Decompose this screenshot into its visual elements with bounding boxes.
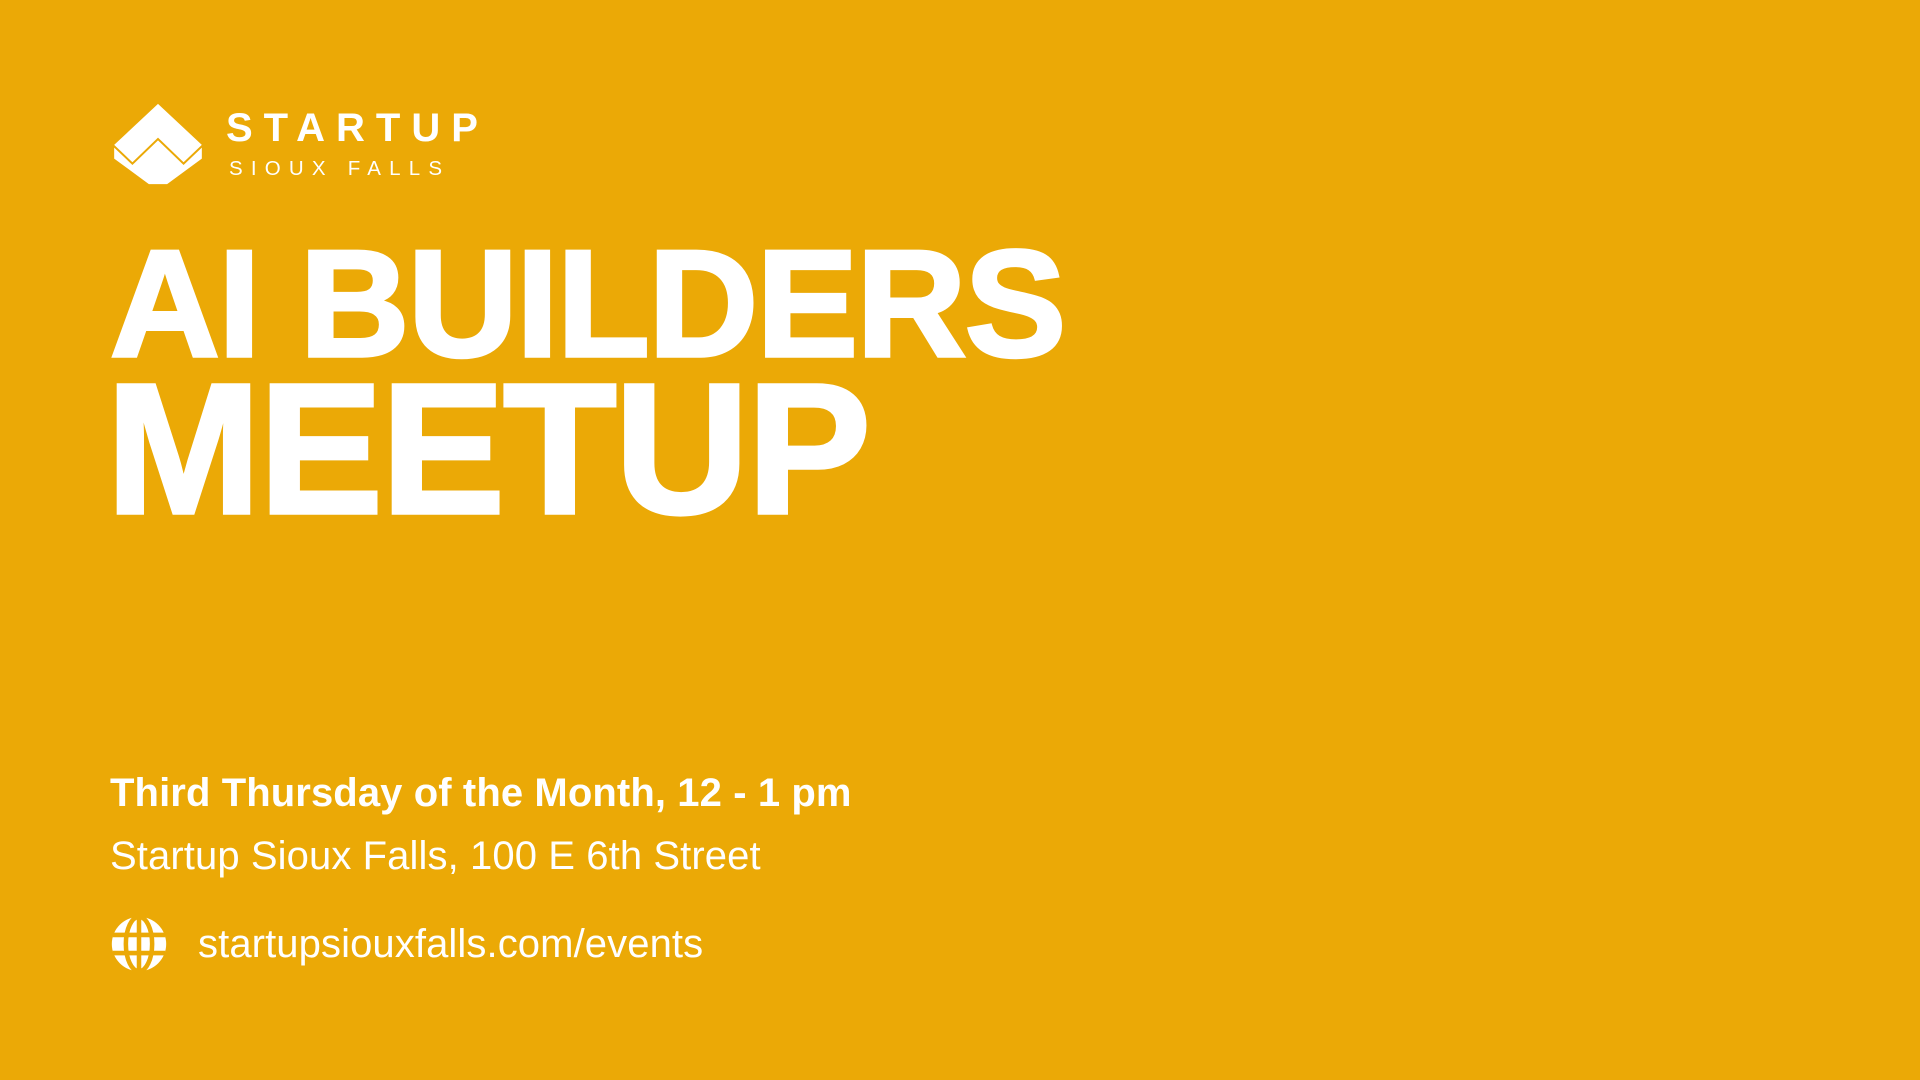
globe-icon [110,915,168,973]
event-link-row[interactable]: startupsiouxfalls.com/events [110,915,703,973]
brand-location: SIOUX FALLS [229,157,489,182]
event-schedule: Third Thursday of the Month, 12 - 1 pm [110,770,852,817]
event-url[interactable]: startupsiouxfalls.com/events [198,924,703,964]
event-details: Third Thursday of the Month, 12 - 1 pm S… [110,770,852,880]
event-venue: Startup Sioux Falls, 100 E 6th Street [110,833,852,880]
headline-line-2: MEETUP [106,366,1065,533]
brand-logo-lockup: STARTUP SIOUX FALLS [112,102,489,186]
chevron-logo-icon [112,102,204,186]
brand-wordmark: STARTUP SIOUX FALLS [226,106,489,181]
brand-name: STARTUP [226,108,489,149]
event-poster: STARTUP SIOUX FALLS AI BUILDERS MEETUP T… [0,0,1920,1080]
poster-headline: AI BUILDERS MEETUP [110,238,1065,533]
